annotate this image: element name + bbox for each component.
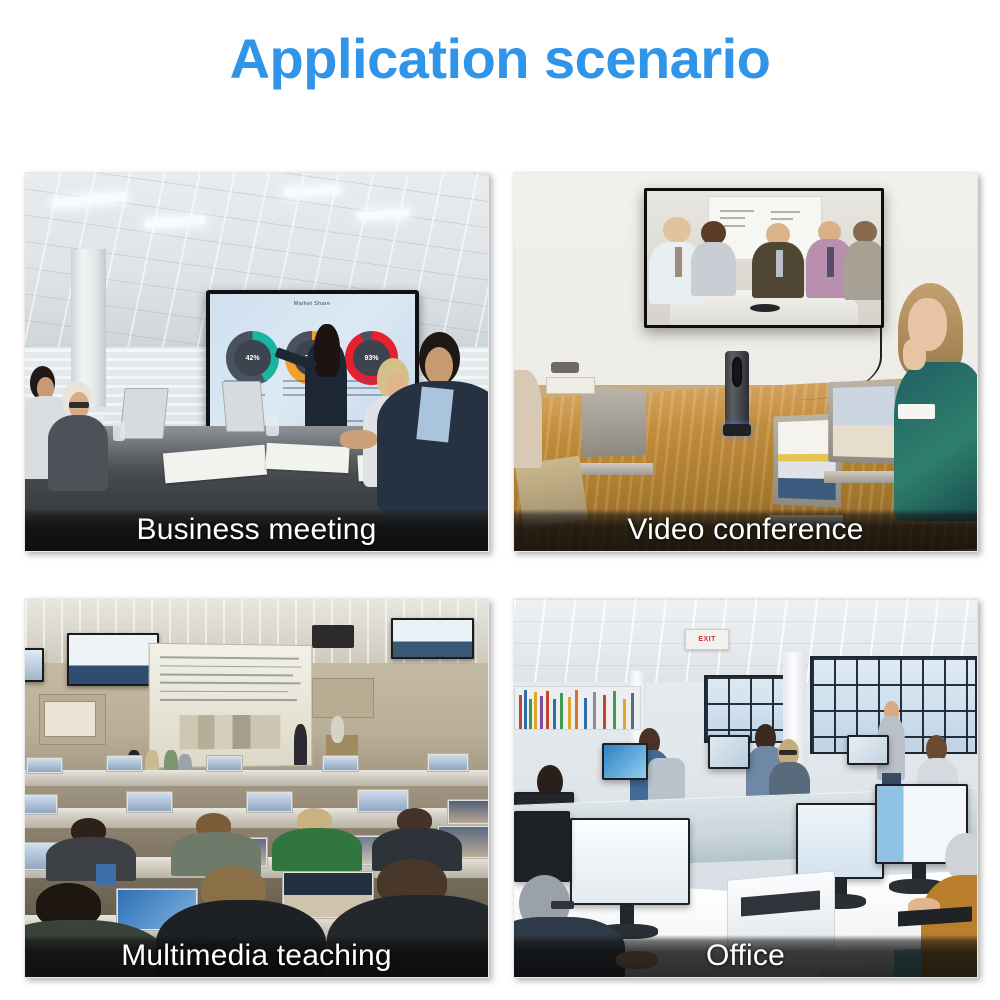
projected-text-line bbox=[160, 665, 302, 668]
desk-phone bbox=[551, 362, 579, 373]
student-laptop bbox=[25, 794, 58, 815]
laptop-screen bbox=[128, 793, 171, 810]
wall-panel bbox=[312, 678, 374, 718]
monitor bbox=[570, 818, 690, 905]
slide-text-line bbox=[343, 387, 380, 389]
page-title: Application scenario bbox=[0, 30, 1000, 89]
projected-text-line bbox=[160, 700, 298, 702]
presenter-hair bbox=[314, 324, 340, 377]
multimedia-teaching-photo bbox=[25, 599, 488, 977]
panel-caption: Business meeting bbox=[25, 509, 488, 551]
attendee-shirt bbox=[416, 387, 454, 443]
panel-caption: Multimedia teaching bbox=[25, 935, 488, 977]
monitor bbox=[708, 735, 750, 769]
laptop-screen bbox=[28, 759, 61, 772]
laptop-lid bbox=[829, 380, 901, 464]
overhead-monitor bbox=[25, 648, 44, 682]
video-conference-photo bbox=[514, 173, 977, 551]
laptop-base bbox=[579, 463, 653, 475]
whiteboard-mark bbox=[771, 218, 794, 220]
book bbox=[623, 699, 626, 729]
student-shoulders bbox=[272, 828, 362, 872]
scenario-card-multimedia-teaching[interactable]: Multimedia teaching bbox=[24, 598, 489, 978]
business-meeting-photo: Market Share 42% 79% 93% bbox=[25, 173, 488, 551]
monitor-screen bbox=[393, 620, 472, 658]
book bbox=[524, 690, 527, 728]
speakerphone bbox=[750, 304, 781, 312]
tv-screen-content bbox=[647, 191, 882, 325]
office-photo: EXIT bbox=[514, 599, 977, 977]
laptop-lid bbox=[582, 387, 647, 458]
projected-text-line bbox=[160, 657, 299, 660]
eyeglasses bbox=[69, 402, 88, 408]
remote-participant-head bbox=[663, 217, 691, 244]
laptop-screen-video-feed bbox=[833, 386, 895, 458]
overhead-monitor bbox=[67, 633, 160, 686]
book bbox=[553, 699, 556, 728]
whiteboard-mark bbox=[724, 225, 744, 227]
window bbox=[704, 675, 792, 743]
attendee-silhouette bbox=[514, 370, 542, 468]
monitor-screen bbox=[25, 650, 42, 680]
book bbox=[540, 696, 543, 728]
student-laptop bbox=[126, 791, 173, 812]
student-laptop bbox=[447, 799, 489, 825]
laptop bbox=[120, 388, 169, 439]
student-laptop bbox=[357, 789, 409, 813]
laptop-screen bbox=[359, 791, 407, 811]
desk-row bbox=[25, 770, 488, 787]
projected-text-line bbox=[160, 674, 293, 676]
laptop-screen-video bbox=[449, 801, 489, 823]
attendee-face bbox=[425, 347, 453, 385]
document-on-table bbox=[265, 443, 350, 474]
book bbox=[534, 692, 537, 729]
water-bottle bbox=[96, 864, 116, 886]
whiteboard-mark bbox=[720, 217, 745, 219]
notebook-stack bbox=[546, 377, 594, 394]
projected-image bbox=[180, 715, 280, 749]
student-laptop bbox=[26, 757, 63, 774]
scenario-grid: Market Share 42% 79% 93% bbox=[24, 172, 978, 978]
cup bbox=[113, 422, 125, 441]
panel-caption: Office bbox=[514, 935, 977, 977]
camera-lens-icon bbox=[732, 357, 742, 387]
laptop-screen bbox=[248, 793, 291, 810]
book bbox=[546, 691, 549, 728]
chalkboard bbox=[44, 701, 97, 737]
remote-participant-body bbox=[691, 242, 736, 296]
book bbox=[519, 695, 522, 728]
laptop bbox=[824, 381, 903, 483]
student-laptop bbox=[427, 753, 469, 772]
remote-participant-tie bbox=[776, 250, 783, 277]
book bbox=[584, 698, 587, 729]
book bbox=[593, 692, 596, 729]
projected-text-line bbox=[160, 691, 288, 693]
monitor bbox=[847, 735, 889, 765]
book bbox=[631, 693, 634, 728]
conference-camera bbox=[725, 351, 749, 430]
attendee-hand bbox=[340, 430, 377, 449]
laptop bbox=[579, 388, 653, 475]
laptop-screen bbox=[208, 757, 241, 770]
laptop-screen bbox=[108, 757, 141, 770]
monitor bbox=[514, 811, 570, 883]
attendee-body bbox=[48, 415, 108, 491]
book bbox=[603, 695, 606, 728]
student-laptop bbox=[106, 755, 143, 772]
laptop-screen bbox=[429, 755, 467, 770]
book bbox=[529, 699, 532, 729]
monitor-screen bbox=[604, 745, 646, 779]
eyeglasses bbox=[551, 901, 574, 909]
projected-text-line bbox=[160, 682, 301, 684]
monitor-screen bbox=[798, 805, 882, 877]
remote-participant-tie bbox=[827, 247, 834, 276]
book bbox=[575, 690, 578, 728]
attendee-hand bbox=[903, 339, 926, 369]
attendee-body bbox=[894, 362, 977, 521]
presenter-at-podium bbox=[331, 716, 345, 742]
remote-participant-head bbox=[853, 221, 876, 244]
monitor bbox=[796, 803, 884, 879]
monitor-screen bbox=[516, 813, 568, 881]
monitor-screen bbox=[69, 635, 158, 684]
scenario-card-video-conference[interactable]: Video conference bbox=[513, 172, 978, 552]
book bbox=[560, 693, 563, 729]
laptop bbox=[222, 381, 266, 432]
whiteboard-mark bbox=[771, 211, 800, 213]
student-laptop bbox=[206, 755, 243, 772]
monitor-screen bbox=[572, 820, 688, 903]
remote-participant-body bbox=[844, 241, 882, 300]
student-laptop bbox=[322, 755, 359, 772]
overhead-monitor bbox=[391, 618, 474, 660]
monitor bbox=[602, 743, 648, 781]
panel-caption: Video conference bbox=[514, 509, 977, 551]
whiteboard-mark bbox=[720, 210, 754, 212]
camera-base bbox=[723, 424, 751, 437]
donut-value-1: 42% bbox=[234, 340, 270, 376]
book bbox=[613, 691, 616, 728]
eyeglasses bbox=[779, 750, 798, 755]
scenario-card-office[interactable]: EXIT bbox=[513, 598, 978, 978]
donut-chart-1: 42% bbox=[226, 331, 279, 384]
monitor-screen bbox=[849, 737, 887, 763]
bookshelf bbox=[514, 686, 641, 730]
laptop-base bbox=[824, 471, 903, 483]
laptop-screen bbox=[25, 796, 56, 813]
student-shoulders bbox=[46, 837, 136, 881]
projector-mount bbox=[312, 625, 354, 648]
student-laptop bbox=[246, 791, 293, 812]
attendee-cuff bbox=[898, 404, 935, 419]
exit-sign: EXIT bbox=[685, 629, 729, 650]
remote-participant-tie bbox=[675, 247, 682, 276]
book bbox=[568, 697, 571, 729]
slide-title: Market Share bbox=[210, 301, 415, 307]
scenario-card-business-meeting[interactable]: Market Share 42% 79% 93% bbox=[24, 172, 489, 552]
laptop-screen bbox=[324, 757, 357, 770]
cup bbox=[266, 415, 279, 436]
monitor-screen bbox=[710, 737, 748, 767]
slide-text-line bbox=[343, 394, 384, 396]
wall-mounted-tv bbox=[644, 188, 885, 328]
